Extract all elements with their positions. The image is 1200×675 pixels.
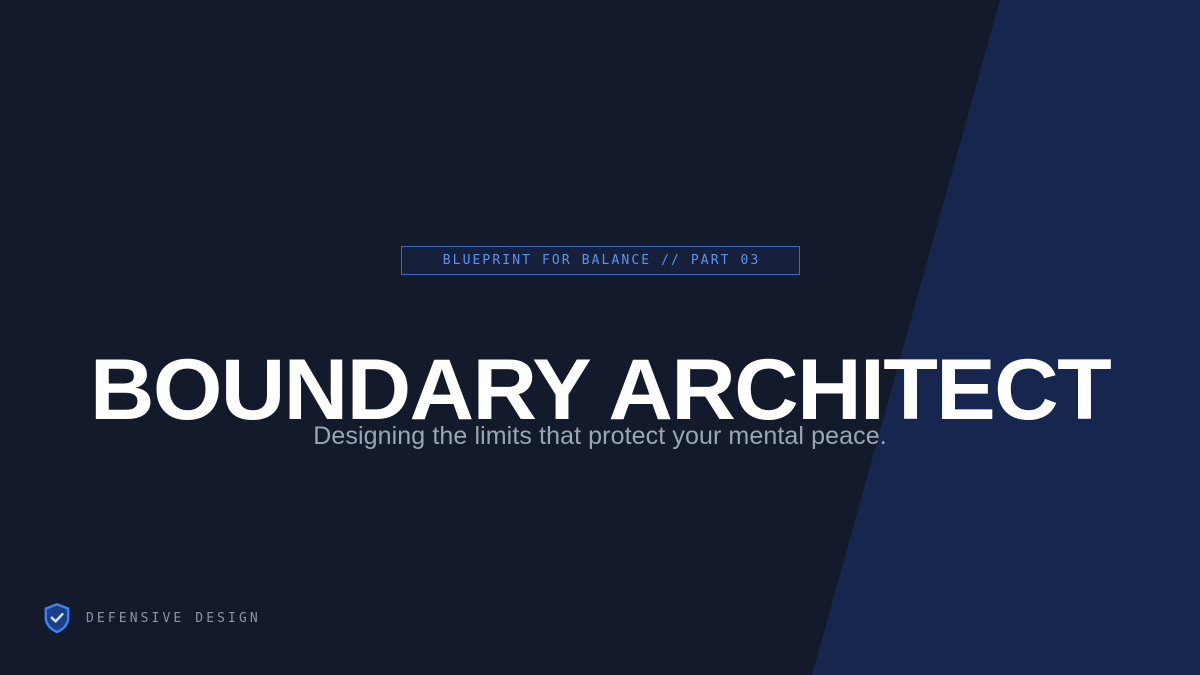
slide-subtitle: Designing the limits that protect your m… xyxy=(0,420,1200,452)
presentation-slide: BLUEPRINT FOR BALANCE // PART 03 BOUNDAR… xyxy=(0,0,1200,675)
brand-name: DEFENSIVE DESIGN xyxy=(86,612,261,625)
brand-lockup: DEFENSIVE DESIGN xyxy=(40,600,261,636)
eyebrow-badge: BLUEPRINT FOR BALANCE // PART 03 xyxy=(401,246,800,275)
slide-content: BLUEPRINT FOR BALANCE // PART 03 BOUNDAR… xyxy=(0,0,1200,675)
shield-check-icon xyxy=(40,601,74,635)
eyebrow-label: BLUEPRINT FOR BALANCE // PART 03 xyxy=(441,254,761,267)
